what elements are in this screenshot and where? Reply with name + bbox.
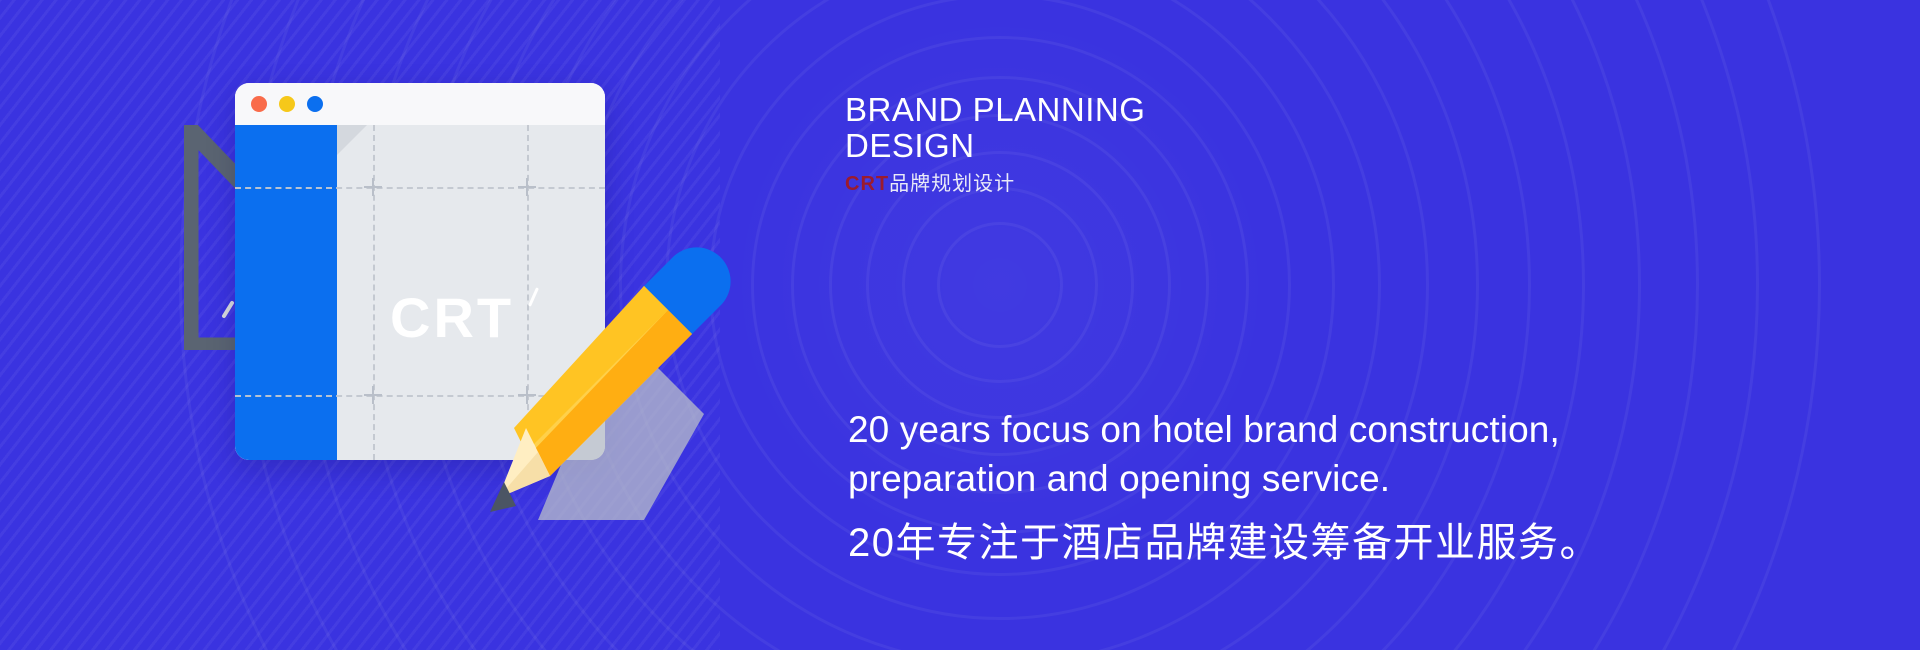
headline-english: 20 years focus on hotel brand constructi… <box>848 405 1668 503</box>
minimize-dot-icon[interactable] <box>279 96 295 112</box>
page-fold-corner-icon <box>337 125 367 155</box>
eyebrow-chinese-text: 品牌规划设计 <box>889 173 1015 195</box>
headline-block: 20 years focus on hotel brand constructi… <box>848 405 1848 567</box>
close-dot-icon[interactable] <box>251 96 267 112</box>
eyebrow-english-line2: DESIGN <box>845 128 1485 164</box>
headline-chinese: 20年专注于酒店品牌建设筹备开业服务。 <box>848 519 1848 567</box>
sidebar-panel-blue <box>235 125 337 460</box>
maximize-dot-icon[interactable] <box>307 96 323 112</box>
window-controls <box>251 96 323 112</box>
brand-design-illustration: CRT <box>180 70 860 570</box>
eyebrow-english-line1: BRAND PLANNING <box>845 92 1485 128</box>
eyebrow-text-block: BRAND PLANNING DESIGN CRT品牌规划设计 <box>845 92 1485 196</box>
pencil-icon <box>468 220 768 520</box>
eyebrow-chinese: CRT品牌规划设计 <box>845 172 1485 196</box>
brand-banner: CRT <box>0 0 1920 650</box>
eyebrow-english: BRAND PLANNING DESIGN <box>845 92 1485 163</box>
brand-name-crt: CRT <box>845 173 889 195</box>
window-titlebar <box>235 83 605 125</box>
